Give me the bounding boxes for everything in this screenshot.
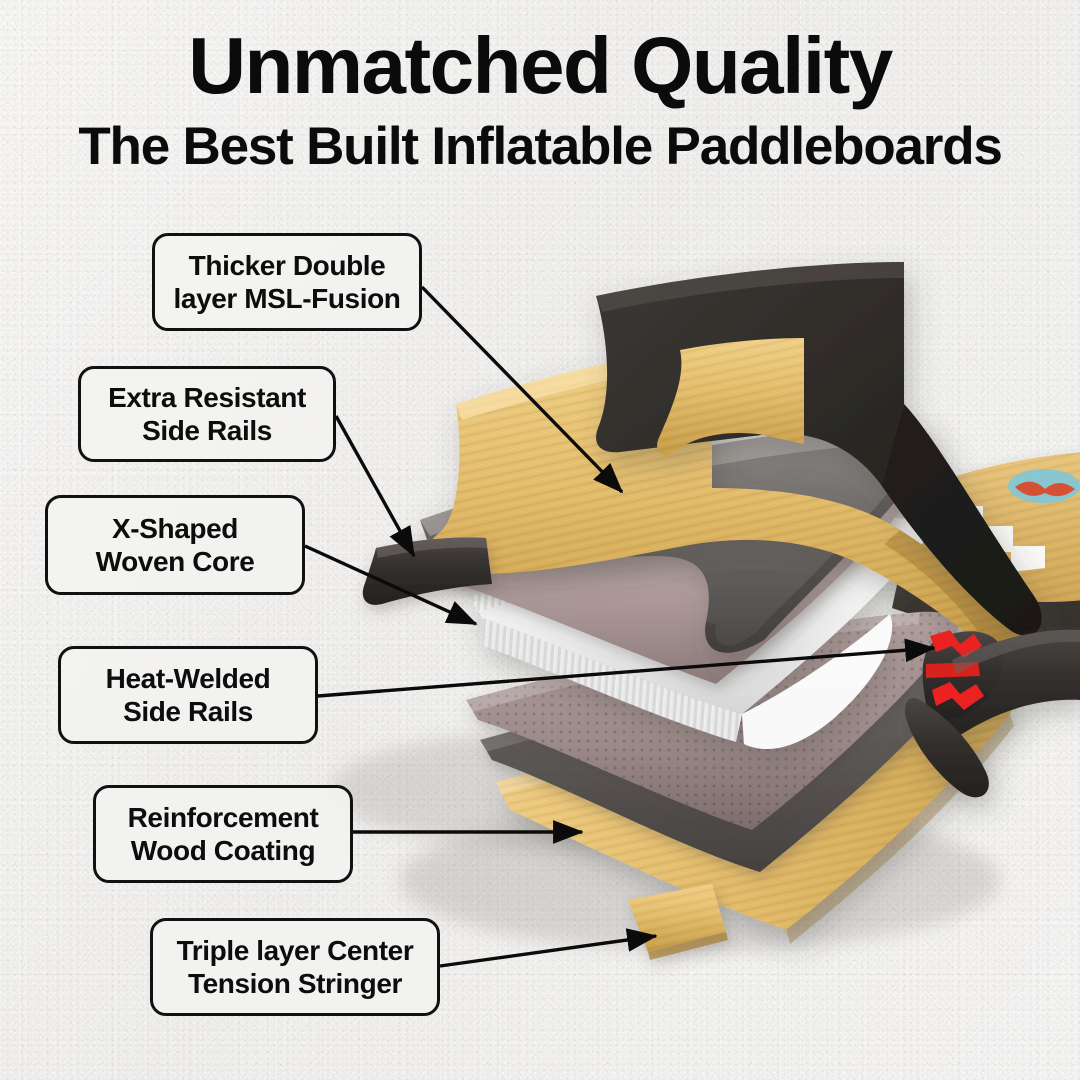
callout-label-line2: Side Rails	[123, 695, 253, 728]
callout-label-line2: Woven Core	[96, 545, 255, 578]
callout-label-line2: layer MSL-Fusion	[174, 282, 401, 315]
callout-label-line1: X-Shaped	[112, 512, 238, 545]
infographic-canvas: Unmatched Quality The Best Built Inflata…	[0, 0, 1080, 1080]
callout-x-shaped-woven-core[interactable]: X-ShapedWoven Core	[45, 495, 305, 595]
header-block: Unmatched Quality The Best Built Inflata…	[0, 26, 1080, 173]
leader-triple-layer-center-tension-stringer	[440, 936, 656, 966]
callout-label-line2: Side Rails	[142, 414, 272, 447]
callout-thicker-double-layer-msl-fusion[interactable]: Thicker Doublelayer MSL-Fusion	[152, 233, 422, 331]
callout-reinforcement-wood-coating[interactable]: ReinforcementWood Coating	[93, 785, 353, 883]
leader-heat-welded-side-rails	[318, 648, 934, 696]
callout-label-line1: Thicker Double	[189, 249, 386, 282]
callout-label-line1: Extra Resistant	[108, 381, 306, 414]
page-subtitle: The Best Built Inflatable Paddleboards	[0, 120, 1080, 173]
callout-label-line2: Wood Coating	[131, 834, 315, 867]
callout-label-line1: Heat-Welded	[106, 662, 271, 695]
leader-x-shaped-woven-core	[305, 546, 476, 624]
callout-triple-layer-center-tension-stringer[interactable]: Triple layer CenterTension Stringer	[150, 918, 440, 1016]
callout-label-line1: Reinforcement	[128, 801, 319, 834]
page-title: Unmatched Quality	[0, 26, 1080, 106]
leader-thicker-double-layer-msl-fusion	[422, 287, 622, 492]
callout-extra-resistant-side-rails[interactable]: Extra ResistantSide Rails	[78, 366, 336, 462]
callout-label-line1: Triple layer Center	[177, 934, 414, 967]
leader-extra-resistant-side-rails	[336, 416, 414, 556]
callout-label-line2: Tension Stringer	[188, 967, 402, 1000]
callout-heat-welded-side-rails[interactable]: Heat-WeldedSide Rails	[58, 646, 318, 744]
